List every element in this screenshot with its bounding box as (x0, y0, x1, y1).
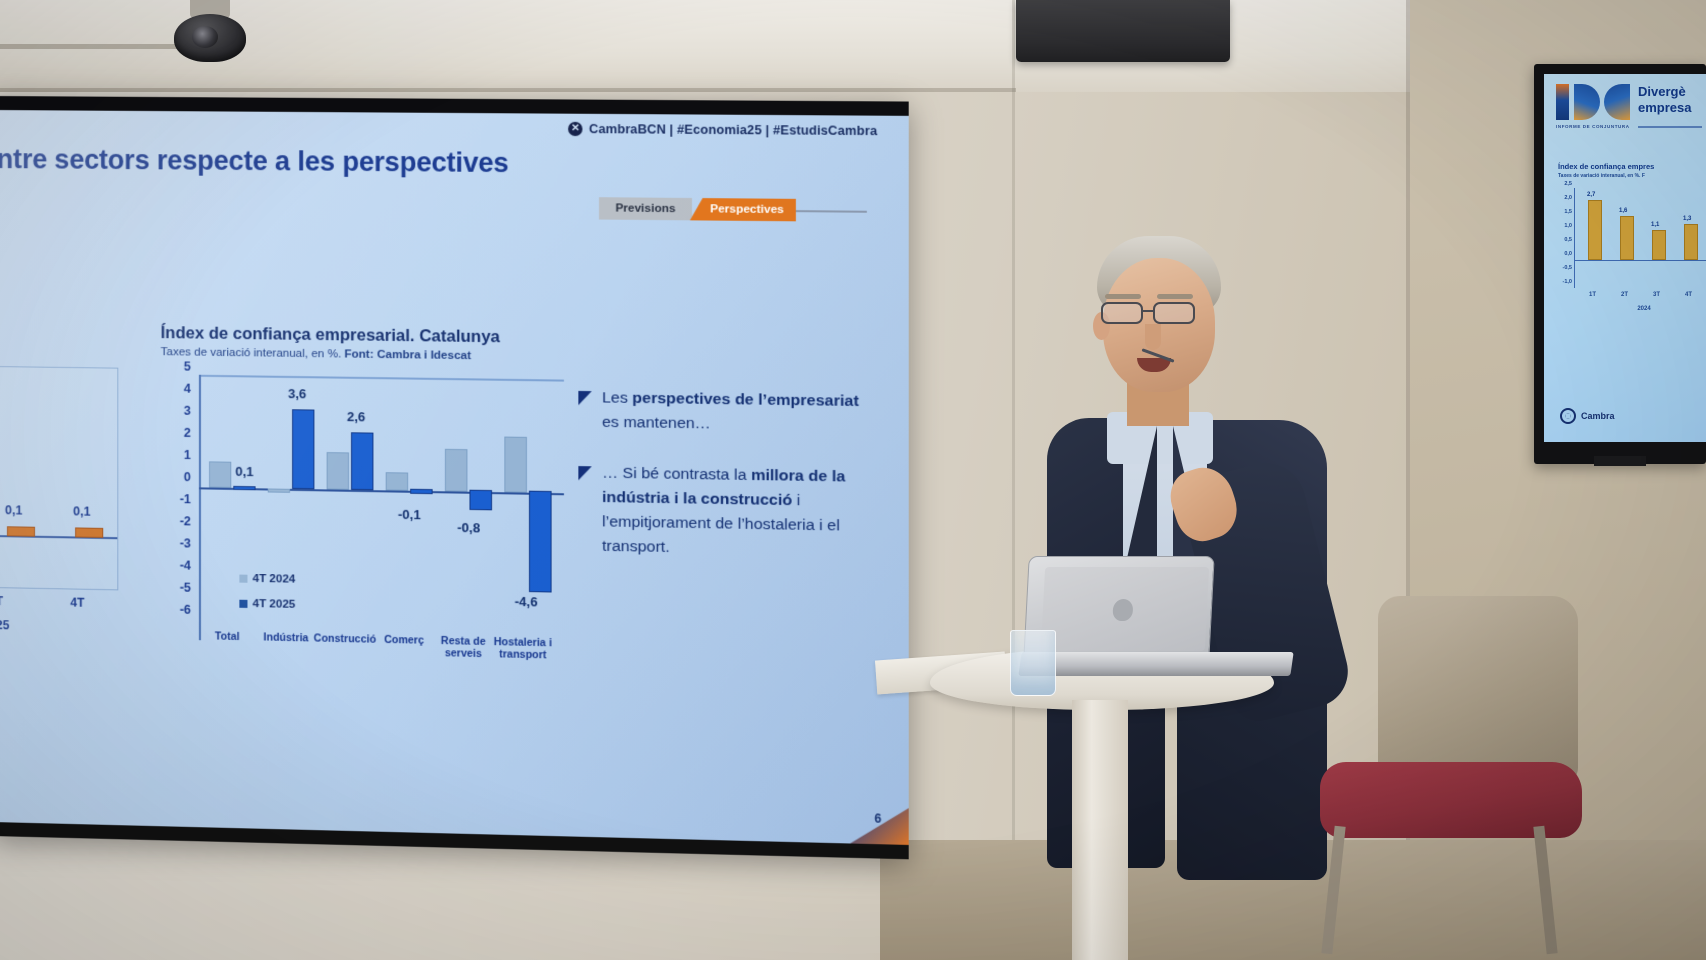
ytick-2: 2 (184, 427, 191, 439)
ytick-1: 1 (184, 449, 191, 461)
monitor-xtick-2t: 2T (1621, 292, 1628, 298)
datalabel-industria: 3,6 (288, 386, 306, 401)
monitor-chart-plot: 2,5 2,0 1,5 1,0 0,5 0,0 -0,5 -1,0 2,7 1,… (1574, 188, 1706, 284)
left-xtick-4t: 4T (70, 595, 84, 609)
slide-hashtags: ✕ CambraBCN | #Economia25 | #EstudisCamb… (568, 122, 877, 138)
tab-perspectives[interactable]: Perspectives (690, 198, 796, 221)
bar-total-2025 (233, 486, 255, 490)
xcat-industria: Indústria (254, 631, 319, 644)
monitor-chart-year: 2024 (1574, 306, 1706, 312)
xcat-total: Total (195, 630, 260, 643)
mon-ytick-6: -0,5 (1563, 265, 1572, 271)
arrow-marker-icon (578, 391, 591, 405)
legend-item-2025: 4T 2025 (239, 598, 295, 611)
idc-logo-tagline: INFORME DE CONJUNTURA (1556, 124, 1630, 129)
monitor-datalabel-2t: 1,6 (1619, 208, 1627, 214)
subtitle-plain: Taxes de variació interanual, en %. (161, 346, 345, 360)
conference-room-scene: ✕ CambraBCN | #Economia25 | #EstudisCamb… (0, 0, 1706, 960)
slide-title: entre sectors respecte a les perspective… (0, 144, 509, 179)
main-chart-xaxis: Total Indústria Construcció Comerç Resta… (199, 630, 564, 678)
lens-left (1101, 302, 1143, 324)
chair-backrest (1378, 596, 1578, 784)
bullet-item-1: Les perspectives de l’empresariat es man… (578, 386, 869, 439)
datalabel-total: 0,1 (235, 464, 253, 479)
xcat-restaserveis: Resta de serveis (431, 635, 497, 661)
monitor-screen: INFORME DE CONJUNTURA Divergè empresa Ín… (1544, 74, 1706, 442)
left-bar-3t (7, 526, 35, 536)
tab-previsions[interactable]: Previsions (599, 197, 692, 220)
main-chart-legend: 4T 2024 4T 2025 (239, 573, 295, 624)
xcat-hostaleria: Hostaleria i transport (490, 636, 556, 662)
bar-total-2024 (209, 461, 231, 488)
eyeglasses (1097, 302, 1219, 324)
monitor-datalabel-1t: 2,7 (1587, 192, 1595, 198)
lens-right (1153, 302, 1195, 324)
ytick-m2: -2 (180, 515, 191, 527)
monitor-y-ticks: 2,5 2,0 1,5 1,0 0,5 0,0 -0,5 -1,0 (1550, 184, 1572, 288)
chair (1300, 596, 1600, 960)
monitor-stand (1594, 456, 1646, 466)
arrow-marker-icon (578, 466, 591, 480)
legend-label-2025: 4T 2025 (253, 598, 296, 611)
datalabel-restaserveis: -0,8 (457, 520, 480, 536)
cambra-mark-icon (1560, 408, 1576, 424)
ytick-0: 0 (184, 471, 191, 483)
ytick-5: 5 (184, 360, 191, 372)
left-xtick-3t: 3T (0, 594, 3, 608)
legend-label-2024: 4T 2024 (253, 573, 296, 586)
ceiling-speaker (1016, 0, 1230, 62)
presentation-slide: ✕ CambraBCN | #Economia25 | #EstudisCamb… (0, 110, 909, 845)
left-chart-year: 2025 (0, 616, 118, 635)
left-bar-4t (75, 527, 103, 538)
monitor-bar-2t (1620, 216, 1634, 260)
laptop (1020, 556, 1292, 682)
water-glass (1010, 630, 1056, 696)
main-chart: Índex de confiança empresarial. Cataluny… (161, 324, 579, 684)
bar-comerc-2024 (386, 472, 408, 491)
bar-comerc-2025 (410, 489, 432, 494)
monitor-bar-3t (1652, 230, 1666, 260)
idc-logo-bar (1556, 84, 1569, 120)
monitor-xtick-1t: 1T (1589, 292, 1596, 298)
monitor-datalabel-4t: 1,3 (1683, 216, 1691, 222)
chair-leg-left (1321, 826, 1345, 954)
slide-tab-group: Previsions Perspectives (599, 197, 859, 222)
ytick-3: 3 (184, 405, 191, 417)
bar-restaserveis-2025 (469, 490, 492, 511)
legend-item-2024: 4T 2024 (239, 573, 295, 586)
mon-ytick-0: 2,5 (1564, 181, 1572, 187)
bar-hostaleria-2025 (529, 491, 552, 593)
left-chart-plot: -0,5 0,1 0,1 (0, 364, 118, 590)
eyebrow-right (1157, 294, 1193, 299)
slide-bullet-list: Les perspectives de l’empresariat es man… (578, 386, 869, 590)
bullet-item-2: … Si bé contrasta la millora de la indús… (578, 461, 869, 564)
tab-connector-line (796, 210, 867, 213)
mon-ytick-5: 0,0 (1564, 251, 1572, 257)
secondary-monitor: INFORME DE CONJUNTURA Divergè empresa Ín… (1534, 64, 1706, 464)
nose (1145, 324, 1161, 350)
mon-ytick-3: 1,0 (1564, 223, 1572, 229)
monitor-bar-1t (1588, 200, 1602, 260)
ytick-4: 4 (184, 383, 191, 395)
glasses-bridge (1143, 310, 1155, 312)
monitor-slide-title: Divergè empresa (1638, 84, 1704, 117)
monitor-xtick-3t: 3T (1653, 292, 1660, 298)
y-axis-ticks: 5 4 3 2 1 0 -1 -2 -3 -4 -5 -6 (165, 366, 195, 632)
laptop-base[interactable] (1018, 652, 1293, 676)
bullet-text-2: … Si bé contrasta la millora de la indús… (602, 461, 869, 563)
datalabel-comerc: -0,1 (398, 507, 421, 523)
monitor-xtick-4t: 4T (1685, 292, 1692, 298)
left-partial-chart: Catalunya mbra i Idescat -0,5 0,1 0,1 (0, 317, 124, 651)
monitor-title-line1: Divergè (1638, 84, 1704, 100)
monitor-title-line2: empresa (1638, 100, 1704, 116)
datalabel-construccio: 2,6 (347, 409, 365, 424)
bar-construccio-2024 (327, 452, 349, 490)
monitor-bar-4t (1684, 224, 1698, 260)
idc-logo-c (1604, 84, 1630, 120)
monitor-datalabel-3t: 1,1 (1651, 222, 1659, 228)
mon-ytick-4: 0,5 (1564, 237, 1572, 243)
ytick-m6: -6 (180, 604, 191, 616)
main-chart-title: Índex de confiança empresarial. Cataluny… (161, 324, 500, 347)
mon-ytick-2: 1,5 (1564, 209, 1572, 215)
monitor-chart-subtitle: Taxes de variació interanual, en %. F (1558, 173, 1645, 179)
bar-industria-2025 (292, 409, 314, 489)
ceiling-edge (0, 88, 1016, 92)
screen-frame: ✕ CambraBCN | #Economia25 | #EstudisCamb… (0, 96, 909, 859)
ytick-m5: -5 (180, 582, 191, 594)
monitor-chart-title: Índex de confiança empres (1558, 162, 1654, 171)
bar-hostaleria-2024 (504, 437, 527, 493)
ytick-m1: -1 (180, 493, 191, 505)
monitor-y-axis (1574, 188, 1575, 288)
bar-construccio-2025 (351, 432, 373, 490)
cambra-logo: Cambra (1560, 408, 1615, 424)
xcat-construccio: Construcció (312, 632, 377, 645)
idc-logo-d (1574, 84, 1600, 120)
left-chart-bars: -0,5 0,1 0,1 (0, 365, 117, 589)
chair-leg-right (1533, 826, 1557, 954)
eyebrow-left (1105, 294, 1141, 299)
main-chart-plot-area: 5 4 3 2 1 0 -1 -2 -3 -4 -5 -6 (199, 375, 564, 632)
hashtags-text: CambraBCN | #Economia25 | #EstudisCambra (589, 122, 877, 138)
slide-page-number: 6 (874, 811, 881, 825)
subtitle-source: Font: Cambra i Idescat (344, 348, 471, 362)
xcat-comerc: Comerç (371, 634, 436, 647)
camera-lens (192, 26, 218, 48)
left-label-3t: 0,1 (5, 503, 22, 517)
left-label-4t: 0,1 (73, 504, 90, 518)
projection-screen: ✕ CambraBCN | #Economia25 | #EstudisCamb… (0, 96, 909, 859)
legend-swatch-2025 (239, 600, 247, 608)
datalabel-hostaleria: -4,6 (515, 594, 538, 610)
monitor-zero-line (1574, 260, 1706, 261)
bar-restaserveis-2024 (445, 449, 468, 492)
bullet-text-1: Les perspectives de l’empresariat es man… (602, 386, 869, 439)
ytick-m3: -3 (180, 537, 191, 549)
bar-industria-2024 (268, 488, 290, 492)
mon-ytick-7: -1,0 (1563, 279, 1572, 285)
legend-swatch-2024 (239, 575, 247, 583)
cambra-logo-text: Cambra (1581, 411, 1615, 421)
ceiling-camera-icon (168, 0, 252, 62)
mon-ytick-1: 2,0 (1564, 195, 1572, 201)
table-column (1072, 700, 1128, 960)
main-chart-subtitle: Taxes de variació interanual, en %. Font… (161, 346, 471, 362)
presenter-table (930, 648, 1274, 960)
left-chart-xaxis: 2T 3T 4T (0, 592, 118, 611)
ytick-m4: -4 (180, 559, 191, 571)
idc-logo-icon (1556, 84, 1630, 120)
x-social-icon: ✕ (568, 122, 582, 136)
monitor-title-rule (1638, 126, 1702, 128)
